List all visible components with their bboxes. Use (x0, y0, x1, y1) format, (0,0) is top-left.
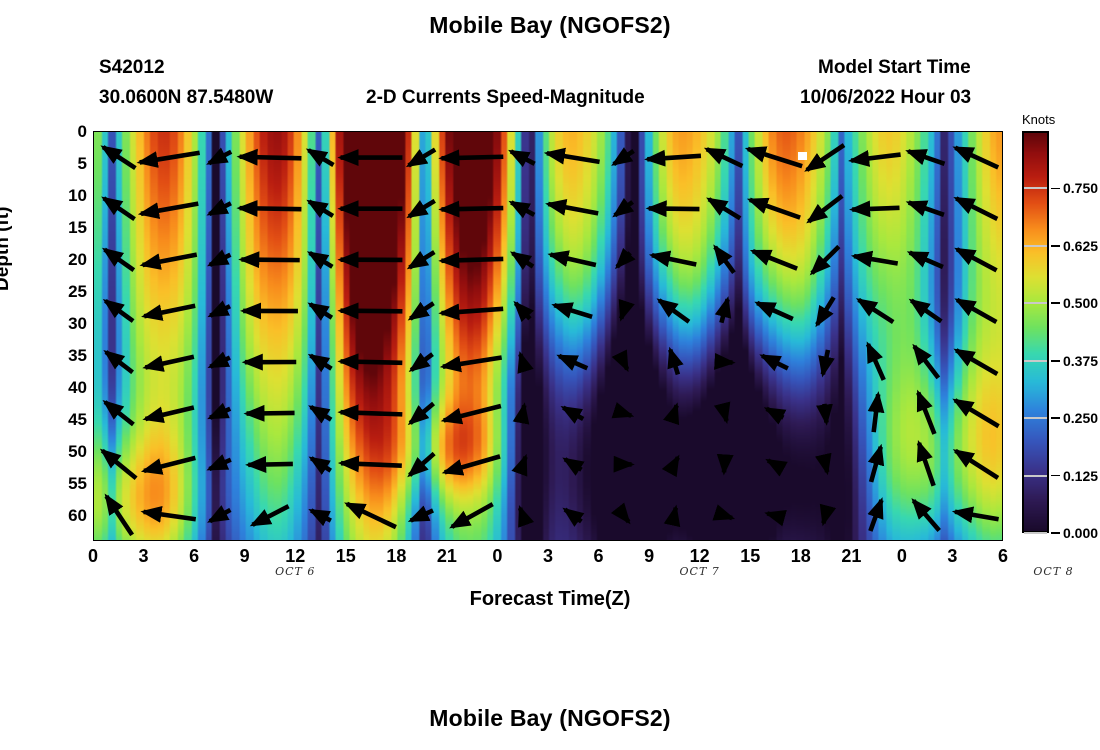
current-arrow (441, 157, 503, 159)
x-tick-label: 0 (88, 546, 98, 567)
current-arrow (140, 153, 200, 163)
current-arrow (854, 256, 898, 263)
x-tick-label: 3 (139, 546, 149, 567)
current-arrow (409, 150, 436, 166)
y-tick-minor (93, 403, 94, 405)
y-tick-minor (93, 371, 94, 373)
y-tick-minor (93, 435, 94, 437)
colorbar-tick-mark (1051, 245, 1060, 247)
current-arrow (617, 253, 630, 267)
current-arrow (652, 255, 696, 264)
current-arrow (441, 208, 503, 209)
currents-heatmap-plot (93, 131, 1003, 541)
x-tick-top (548, 131, 550, 132)
current-arrow (210, 510, 231, 521)
model-start-time-label: Model Start Time (818, 57, 971, 79)
current-arrow (311, 407, 331, 420)
current-arrow (957, 249, 997, 270)
current-arrow (520, 354, 525, 370)
current-arrow (310, 253, 333, 267)
current-arrow (750, 200, 800, 218)
colorbar-tick-label: 0.125 (1063, 468, 1098, 484)
current-arrow (310, 304, 332, 317)
colorbar-tick-inner (1024, 245, 1047, 247)
colorbar-tick-mark (1051, 302, 1060, 304)
current-arrow (565, 509, 581, 521)
current-arrow (210, 255, 231, 265)
x-tick-bottom (346, 540, 348, 541)
current-arrow (563, 408, 583, 419)
current-arrow (410, 303, 433, 318)
x-tick-bottom (599, 540, 601, 541)
y-tick-right (1002, 147, 1003, 149)
current-arrow (724, 456, 725, 472)
current-arrow (748, 149, 802, 166)
y-tick-right (1002, 211, 1003, 213)
x-tick-label: 15 (336, 546, 356, 567)
y-tick-major (93, 259, 94, 261)
x-tick-label: 15 (740, 546, 760, 567)
y-tick-right (1002, 259, 1003, 261)
colorbar-tick-label: 0.250 (1063, 410, 1098, 426)
colorbar-tick-inner (1024, 417, 1047, 419)
current-arrow (445, 456, 500, 472)
y-tick-right (1002, 323, 1003, 325)
current-arrow (248, 464, 293, 465)
x-tick-label: 9 (644, 546, 654, 567)
colorbar-tick-label: 0.000 (1063, 525, 1098, 541)
current-arrow (513, 253, 533, 266)
current-arrow (659, 300, 689, 322)
current-arrow (520, 457, 525, 472)
x-tick-top (295, 131, 297, 132)
current-arrow (565, 459, 582, 469)
x-tick-label: 3 (947, 546, 957, 567)
current-arrow (767, 513, 782, 517)
current-arrow (807, 145, 844, 170)
y-tick-minor (93, 147, 94, 149)
x-tick-bottom (801, 540, 803, 541)
colorbar-tick-mark (1051, 417, 1060, 419)
y-tick-right (1002, 500, 1003, 502)
y-tick-label: 50 (68, 442, 87, 462)
current-arrow (809, 196, 842, 222)
current-arrow (955, 148, 998, 168)
current-arrow (955, 451, 998, 478)
x-tick-bottom (194, 540, 196, 541)
y-tick-minor (93, 275, 94, 277)
colorbar-tick-inner (1024, 475, 1047, 477)
current-arrow (874, 394, 878, 432)
y-tick-right (1002, 452, 1003, 454)
y-tick-label: 45 (68, 410, 87, 430)
x-tick-top (801, 131, 803, 132)
current-arrow (621, 303, 626, 318)
y-tick-major (93, 291, 94, 293)
current-arrow (209, 203, 231, 214)
x-tick-bottom (852, 540, 854, 541)
y-tick-major (93, 452, 94, 454)
y-tick-label: 40 (68, 378, 87, 398)
current-arrow (851, 155, 900, 161)
current-arrow (614, 151, 634, 164)
current-arrow (717, 513, 732, 518)
current-arrow (311, 458, 331, 470)
current-arrow (516, 303, 530, 319)
y-tick-minor (93, 468, 94, 470)
current-arrow (721, 299, 727, 322)
colorbar-tick-mark (1051, 360, 1060, 362)
y-tick-major (93, 419, 94, 421)
x-tick-top (700, 131, 702, 132)
current-arrow (615, 202, 633, 215)
current-arrow (910, 253, 943, 267)
current-arrow (852, 208, 899, 210)
y-tick-major (93, 355, 94, 357)
y-tick-right (1002, 307, 1003, 309)
chart-subtitle: 2-D Currents Speed-Magnitude (366, 87, 645, 109)
current-arrow (240, 157, 302, 159)
current-arrow (210, 409, 230, 418)
x-tick-bottom (144, 540, 146, 541)
current-arrow (753, 251, 797, 268)
current-arrow (672, 508, 675, 524)
y-tick-right (1002, 227, 1003, 229)
x-tick-label: 18 (386, 546, 406, 567)
current-arrow (913, 501, 939, 531)
y-tick-right (1002, 163, 1003, 165)
current-arrow (144, 458, 195, 471)
station-id: S42012 (99, 57, 165, 79)
y-tick-minor (93, 532, 94, 534)
x-tick-top (447, 131, 449, 132)
current-arrow (955, 400, 999, 426)
x-tick-bottom (295, 540, 297, 541)
current-arrow (859, 300, 894, 322)
y-tick-major (93, 484, 94, 486)
colorbar-tick-mark (1051, 475, 1060, 477)
current-arrow (441, 309, 503, 313)
current-vector-arrows (94, 132, 1002, 541)
current-arrow (309, 150, 334, 165)
current-arrow (341, 311, 403, 312)
current-arrow (911, 301, 941, 322)
x-tick-bottom (649, 540, 651, 541)
current-arrow (247, 413, 295, 414)
current-arrow (767, 409, 784, 418)
y-tick-major (93, 323, 94, 325)
current-arrow (620, 355, 627, 369)
y-tick-right (1002, 435, 1003, 437)
current-arrow (823, 508, 827, 523)
x-tick-top (750, 131, 752, 132)
current-arrow (868, 344, 884, 380)
current-arrow (817, 297, 834, 324)
y-tick-major (93, 227, 94, 229)
model-start-time-value: 10/06/2022 Hour 03 (800, 87, 971, 109)
x-tick-label: 3 (543, 546, 553, 567)
y-tick-major (93, 516, 94, 518)
page-title-bottom: Mobile Bay (NGOFS2) (0, 705, 1100, 732)
current-arrow (411, 354, 432, 370)
current-arrow (240, 208, 302, 209)
current-arrow (908, 151, 944, 164)
current-arrow (762, 356, 788, 369)
current-arrow (768, 460, 782, 468)
current-arrow (511, 202, 534, 214)
x-tick-label: 6 (189, 546, 199, 567)
observation-marker (798, 152, 807, 160)
current-arrow (757, 303, 793, 319)
x-tick-label: 21 (841, 546, 861, 567)
y-tick-minor (93, 179, 94, 181)
current-arrow (909, 203, 944, 215)
y-tick-label: 25 (68, 282, 87, 302)
current-arrow (871, 447, 881, 482)
current-arrow (411, 510, 433, 520)
current-arrow (511, 151, 535, 163)
colorbar-tick-mark (1051, 532, 1060, 534)
current-arrow (141, 204, 198, 214)
x-tick-label: 9 (240, 546, 250, 567)
x-tick-bottom (953, 540, 955, 541)
current-arrow (670, 457, 678, 471)
current-arrow (210, 358, 230, 367)
current-arrow (672, 405, 677, 421)
x-tick-label: 12 (690, 546, 710, 567)
y-tick-right (1002, 516, 1003, 518)
y-tick-right (1002, 387, 1003, 389)
current-arrow (144, 512, 196, 519)
x-tick-bottom (700, 540, 702, 541)
current-arrow (452, 504, 493, 527)
current-arrow (102, 451, 136, 479)
current-arrow (547, 153, 600, 162)
y-tick-label: 30 (68, 314, 87, 334)
current-arrow (824, 457, 827, 473)
y-tick-label: 60 (68, 506, 87, 526)
x-tick-top (649, 131, 651, 132)
current-arrow (144, 306, 195, 317)
y-tick-right (1002, 291, 1003, 293)
x-day-label: OCT 7 (680, 565, 720, 578)
y-tick-right (1002, 419, 1003, 421)
current-arrow (410, 454, 435, 476)
current-arrow (709, 199, 740, 218)
current-arrow (106, 352, 133, 372)
y-tick-right (1002, 195, 1003, 197)
current-arrow (341, 412, 403, 414)
y-tick-label: 55 (68, 474, 87, 494)
y-tick-right (1002, 532, 1003, 534)
x-tick-bottom (548, 540, 550, 541)
current-arrow (105, 301, 133, 321)
y-tick-major (93, 163, 94, 165)
current-arrow (723, 405, 727, 420)
current-arrow (210, 306, 230, 315)
x-day-label: OCT 8 (1033, 565, 1073, 578)
x-tick-bottom (447, 540, 449, 541)
colorbar-tick-label: 0.375 (1063, 353, 1098, 369)
current-arrow (717, 362, 733, 363)
colorbar-tick-inner (1024, 302, 1047, 304)
x-tick-top (599, 131, 601, 132)
colorbar-tick-label: 0.750 (1063, 180, 1098, 196)
current-arrow (919, 443, 934, 486)
y-tick-right (1002, 243, 1003, 245)
colorbar-tick-inner (1024, 532, 1047, 534)
colorbar-unit-label: Knots (1022, 112, 1055, 127)
x-axis-title: Forecast Time(Z) (0, 588, 1100, 611)
current-arrow (707, 149, 743, 166)
x-tick-bottom (902, 540, 904, 541)
y-tick-right (1002, 179, 1003, 181)
x-tick-label: 18 (791, 546, 811, 567)
y-tick-label: 5 (78, 154, 87, 174)
x-tick-label: 0 (897, 546, 907, 567)
x-tick-label: 0 (492, 546, 502, 567)
x-tick-top (194, 131, 196, 132)
current-arrow (311, 510, 331, 520)
y-tick-right (1002, 339, 1003, 341)
current-arrow (441, 259, 503, 261)
current-arrow (444, 406, 501, 420)
colorbar (1022, 131, 1049, 533)
y-tick-right (1002, 468, 1003, 470)
y-tick-major (93, 387, 94, 389)
current-arrow (619, 509, 629, 522)
current-arrow (145, 407, 193, 418)
y-tick-right (1002, 355, 1003, 357)
y-tick-label: 10 (68, 186, 87, 206)
colorbar-tick-inner (1024, 187, 1047, 189)
y-tick-label: 35 (68, 346, 87, 366)
y-axis-title: Depth (ft) (0, 207, 14, 291)
current-arrow (870, 500, 881, 531)
current-arrow (824, 404, 826, 423)
current-arrow (341, 361, 403, 362)
current-arrow (105, 250, 134, 271)
colorbar-tick-label: 0.625 (1063, 238, 1098, 254)
current-arrow (554, 305, 592, 317)
colorbar-tick-mark (1051, 188, 1060, 190)
x-tick-top (144, 131, 146, 132)
current-arrow (550, 255, 595, 265)
y-tick-right (1002, 403, 1003, 405)
y-tick-right (1002, 484, 1003, 486)
current-arrow (253, 506, 289, 525)
current-arrow (559, 356, 587, 368)
current-arrow (520, 508, 525, 523)
current-arrow (209, 460, 230, 469)
current-arrow (548, 204, 598, 213)
current-arrow (209, 152, 231, 164)
current-arrow (521, 405, 524, 421)
x-tick-top (852, 131, 854, 132)
y-tick-label: 20 (68, 250, 87, 270)
current-arrow (409, 201, 435, 217)
y-tick-minor (93, 500, 94, 502)
y-tick-right (1002, 131, 1003, 133)
x-tick-top (93, 131, 95, 132)
current-arrow (311, 356, 332, 369)
current-arrow (103, 147, 135, 168)
colorbar-tick-label: 0.500 (1063, 295, 1098, 311)
current-arrow (309, 201, 333, 215)
x-tick-label: 12 (285, 546, 305, 567)
y-tick-right (1002, 275, 1003, 277)
current-arrow (105, 402, 133, 424)
y-tick-label: 15 (68, 218, 87, 238)
x-tick-label: 21 (437, 546, 457, 567)
current-arrow (955, 512, 999, 519)
y-tick-minor (93, 243, 94, 245)
x-tick-bottom (750, 540, 752, 541)
x-tick-bottom (397, 540, 399, 541)
y-tick-minor (93, 339, 94, 341)
current-arrow (347, 504, 396, 527)
x-tick-bottom (498, 540, 500, 541)
current-arrow (670, 350, 678, 375)
current-arrow (106, 496, 132, 535)
current-arrow (956, 350, 997, 374)
colorbar-tick-inner (1024, 360, 1047, 362)
y-tick-label: 0 (78, 122, 87, 142)
x-tick-top (245, 131, 247, 132)
x-tick-top (953, 131, 955, 132)
current-arrow (957, 300, 996, 322)
x-tick-top (397, 131, 399, 132)
x-tick-top (498, 131, 500, 132)
y-tick-minor (93, 307, 94, 309)
current-arrow (823, 350, 828, 374)
current-arrow (956, 198, 997, 218)
current-arrow (649, 208, 700, 209)
x-tick-label: 6 (998, 546, 1008, 567)
current-arrow (812, 247, 839, 274)
current-arrow (241, 260, 299, 261)
y-tick-minor (93, 211, 94, 213)
current-arrow (409, 252, 434, 268)
x-tick-top (346, 131, 348, 132)
x-tick-bottom (93, 540, 95, 541)
current-arrow (715, 247, 734, 273)
current-arrow (341, 463, 402, 465)
current-arrow (443, 358, 502, 367)
current-arrow (918, 393, 934, 434)
station-coordinates: 30.0600N 87.5480W (99, 87, 273, 109)
current-arrow (647, 156, 701, 159)
current-arrow (914, 346, 938, 378)
x-tick-bottom (245, 540, 247, 541)
y-tick-major (93, 195, 94, 197)
current-arrow (616, 411, 631, 416)
current-arrow (104, 198, 135, 219)
current-arrow (143, 255, 197, 265)
page-title-top: Mobile Bay (NGOFS2) (0, 12, 1100, 39)
current-arrow (410, 403, 433, 423)
x-tick-top (902, 131, 904, 132)
y-tick-right (1002, 371, 1003, 373)
x-tick-label: 6 (594, 546, 604, 567)
current-arrow (145, 357, 193, 368)
x-day-label: OCT 6 (275, 565, 315, 578)
